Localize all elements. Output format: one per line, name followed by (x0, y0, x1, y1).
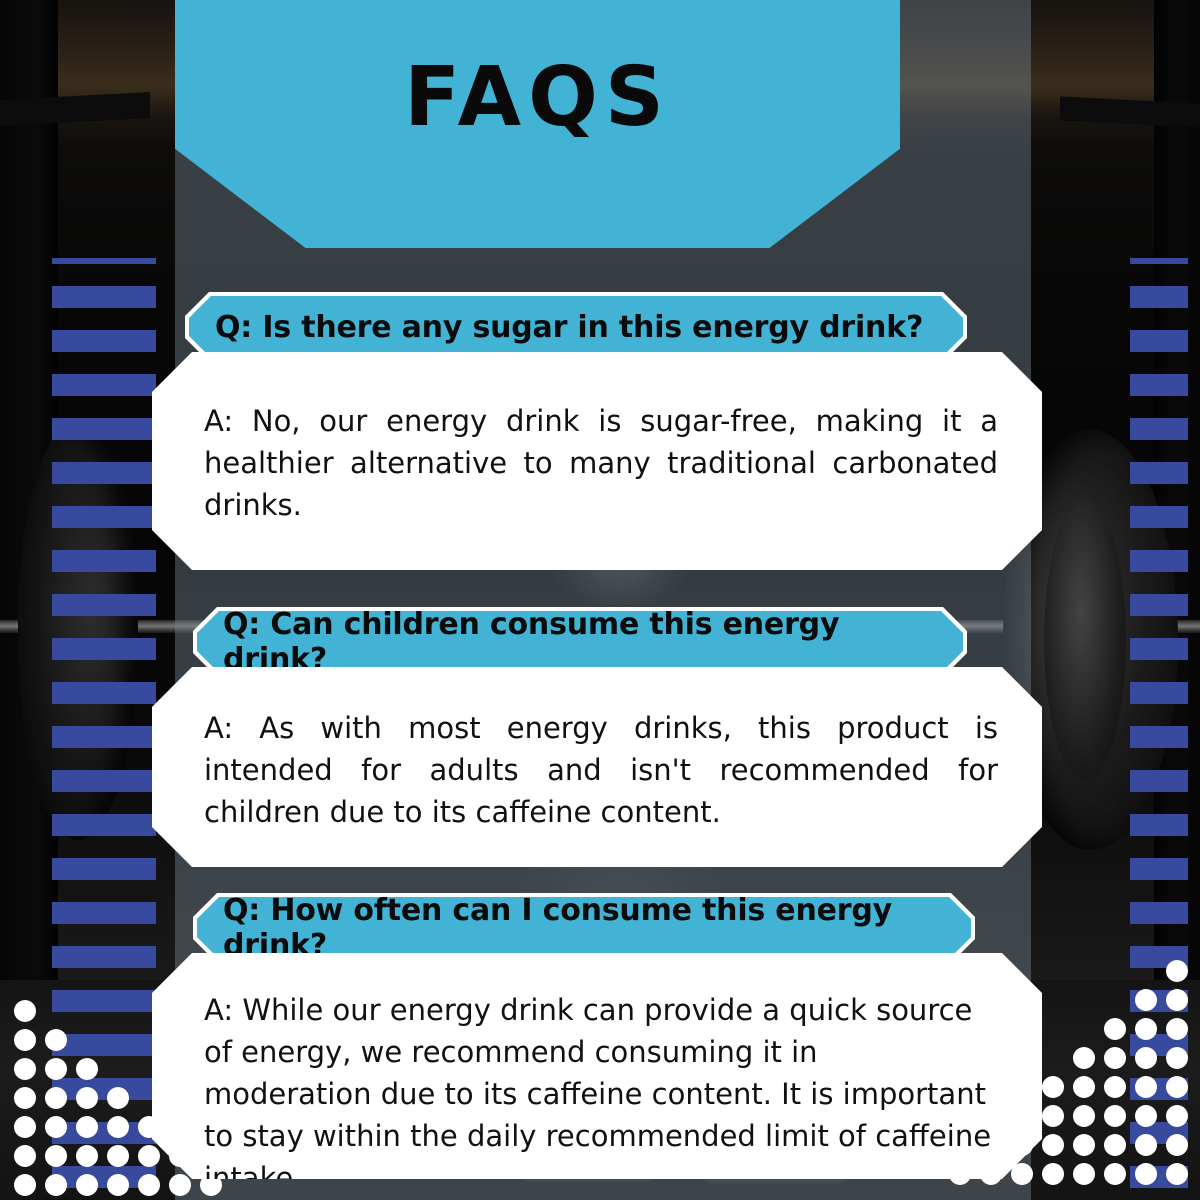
stripe (52, 286, 156, 308)
stripe (1130, 462, 1188, 484)
dot (1166, 1105, 1188, 1127)
stripe (52, 814, 156, 836)
dot (1166, 1076, 1188, 1098)
dot (14, 1029, 36, 1051)
dot (14, 1000, 36, 1022)
dot (1042, 1163, 1064, 1185)
dot (1166, 1134, 1188, 1156)
stripe (52, 682, 156, 704)
stripe (52, 258, 156, 264)
stripe (1130, 258, 1188, 264)
dot (1166, 989, 1188, 1011)
dot (1073, 1047, 1095, 1069)
stripe (52, 506, 156, 528)
dot (1042, 1105, 1064, 1127)
dot (107, 1116, 129, 1138)
dot (45, 1174, 67, 1196)
stripe (52, 946, 156, 968)
dot (1166, 1047, 1188, 1069)
dot (14, 1116, 36, 1138)
stripe (1130, 902, 1188, 924)
stripe (1130, 286, 1188, 308)
stripe (1130, 330, 1188, 352)
dot (1104, 1105, 1126, 1127)
dot (1135, 989, 1157, 1011)
background-weight-plate-right-inner (1044, 500, 1126, 780)
dot (1073, 1163, 1095, 1185)
dot (1073, 1076, 1095, 1098)
stripe (52, 374, 156, 396)
stripe (1130, 726, 1188, 748)
dot (45, 1145, 67, 1167)
question-box-inner: Q: Can children consume this energy drin… (197, 611, 963, 673)
dot (1135, 1105, 1157, 1127)
dot (45, 1029, 67, 1051)
dot (107, 1087, 129, 1109)
answer-box: A: While our energy drink can provide a … (152, 953, 1042, 1179)
stripe (1130, 814, 1188, 836)
stripe (1130, 682, 1188, 704)
answer-text: A: While our energy drink can provide a … (204, 989, 994, 1199)
dot (169, 1174, 191, 1196)
page-title: FAQS (404, 57, 671, 139)
dot (1135, 1163, 1157, 1185)
stripe (1130, 506, 1188, 528)
dot (76, 1116, 98, 1138)
dot (1104, 1134, 1126, 1156)
stripe (52, 902, 156, 924)
stripe (52, 770, 156, 792)
answer-text: A: No, our energy drink is sugar-free, m… (204, 400, 998, 526)
dot (1135, 1076, 1157, 1098)
dot (1166, 1018, 1188, 1040)
question-text: Q: How often can I consume this energy d… (197, 893, 971, 963)
dot (14, 1058, 36, 1080)
stripe (52, 858, 156, 880)
answer-text: A: As with most energy drinks, this prod… (204, 707, 998, 833)
dot (1166, 960, 1188, 982)
dot (1135, 1018, 1157, 1040)
stripe (1130, 858, 1188, 880)
dot (1104, 1163, 1126, 1185)
dot (138, 1174, 160, 1196)
dot (45, 1087, 67, 1109)
stripe (52, 550, 156, 572)
dot (1135, 1047, 1157, 1069)
dot (45, 1116, 67, 1138)
question-box[interactable]: Q: Is there any sugar in this energy dri… (185, 292, 967, 362)
stripe (1130, 638, 1188, 660)
header-banner: FAQS (175, 0, 900, 248)
stripe (52, 418, 156, 440)
dot (107, 1174, 129, 1196)
question-box-inner: Q: Is there any sugar in this energy dri… (189, 296, 963, 358)
dot (76, 1058, 98, 1080)
dot (1104, 1076, 1126, 1098)
dot (76, 1174, 98, 1196)
dot (1104, 1047, 1126, 1069)
stripe (1130, 418, 1188, 440)
dot (76, 1145, 98, 1167)
question-box[interactable]: Q: How often can I consume this energy d… (193, 893, 975, 963)
dot (138, 1145, 160, 1167)
dot (1042, 1134, 1064, 1156)
dot (76, 1087, 98, 1109)
answer-box: A: No, our energy drink is sugar-free, m… (152, 352, 1042, 570)
question-text: Q: Is there any sugar in this energy dri… (189, 310, 943, 345)
question-text: Q: Can children consume this energy drin… (197, 607, 963, 677)
stripe (52, 594, 156, 616)
dot (1042, 1076, 1064, 1098)
stripe (1130, 770, 1188, 792)
stripe (1130, 594, 1188, 616)
dot (1135, 1134, 1157, 1156)
dot (14, 1145, 36, 1167)
dot (14, 1087, 36, 1109)
stripe (52, 726, 156, 748)
dot (45, 1058, 67, 1080)
stripe (52, 462, 156, 484)
dot (1166, 1163, 1188, 1185)
dot (1104, 1018, 1126, 1040)
dot (107, 1145, 129, 1167)
answer-box: A: As with most energy drinks, this prod… (152, 667, 1042, 867)
question-box-inner: Q: How often can I consume this energy d… (197, 897, 971, 959)
dot (1073, 1105, 1095, 1127)
question-box[interactable]: Q: Can children consume this energy drin… (193, 607, 967, 677)
stripe (1130, 550, 1188, 572)
dot (14, 1174, 36, 1196)
dot (1073, 1134, 1095, 1156)
stripe (52, 330, 156, 352)
stripe (52, 638, 156, 660)
stripe (1130, 374, 1188, 396)
